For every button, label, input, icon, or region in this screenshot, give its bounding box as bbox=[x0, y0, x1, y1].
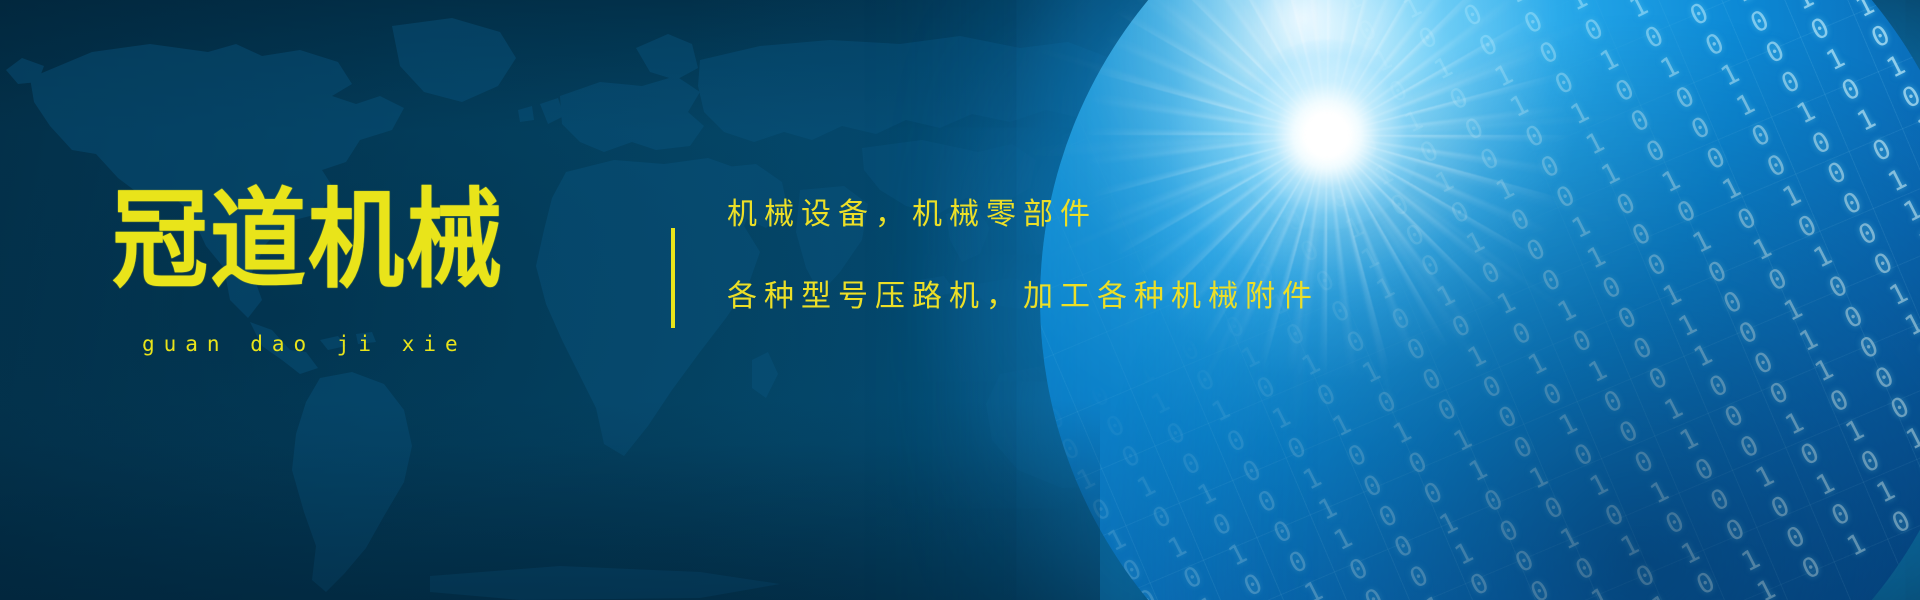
tagline-group: 机械设备，机械零部件 各种型号压路机，加工各种机械附件 bbox=[727, 198, 1627, 314]
vertical-divider bbox=[671, 228, 675, 328]
hero-banner: 1 0 1 0 0 1 0 1 0 0 1 0 0 1 0 1 0 0 1 0 … bbox=[0, 0, 1920, 600]
tagline-line-1: 机械设备，机械零部件 bbox=[727, 198, 1627, 232]
banner-content: 冠道机械 guan dao ji xie 机械设备，机械零部件 各种型号压路机，… bbox=[0, 0, 1920, 600]
company-name-title: 冠道机械 bbox=[112, 182, 542, 298]
tagline-line-2: 各种型号压路机，加工各种机械附件 bbox=[727, 280, 1627, 314]
logo-block: 冠道机械 guan dao ji xie bbox=[112, 182, 542, 356]
company-name-pinyin: guan dao ji xie bbox=[112, 332, 542, 356]
